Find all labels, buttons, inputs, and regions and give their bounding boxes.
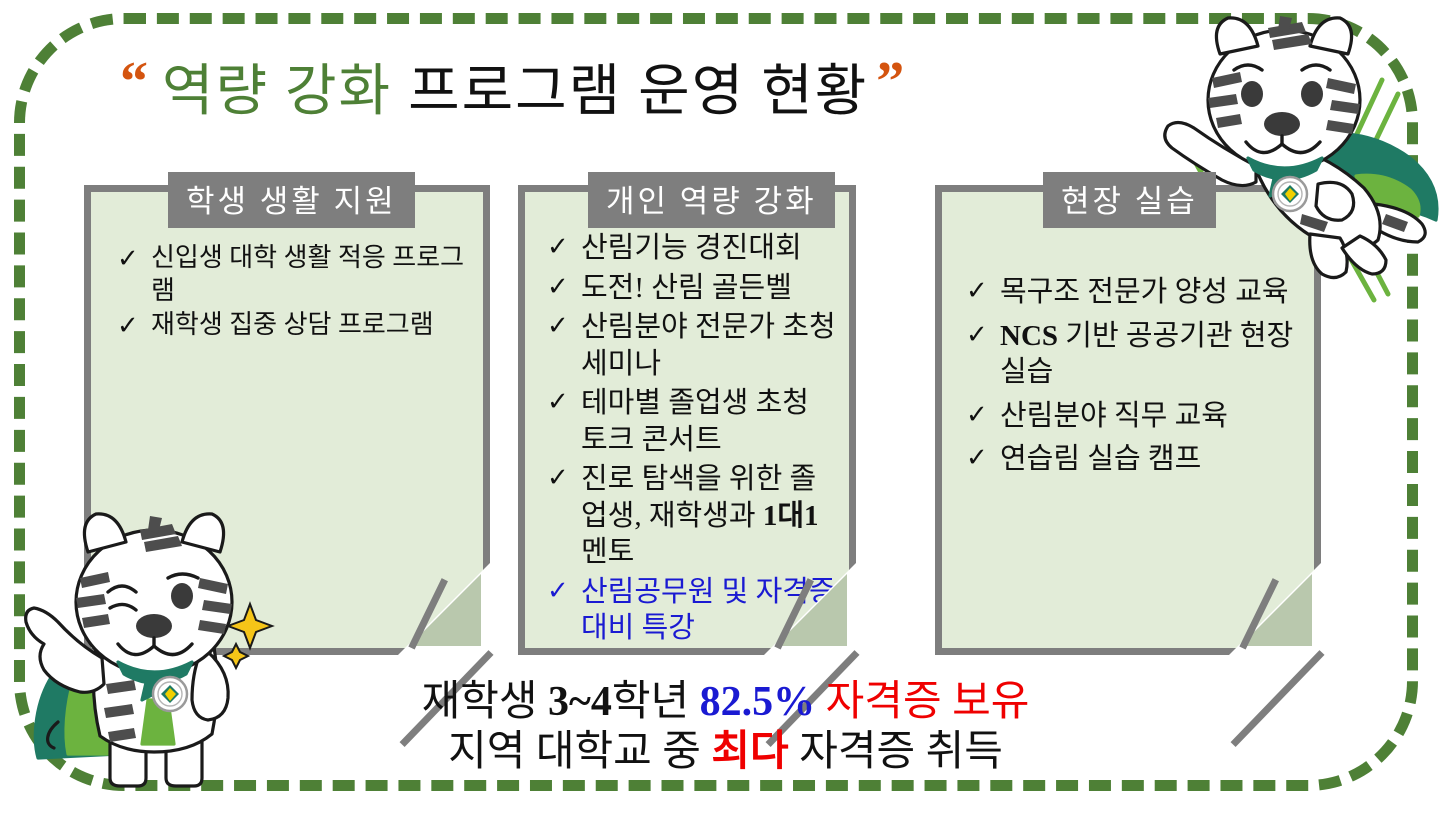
- list-item-label: 산림분야 전문가 초청 세미나: [581, 311, 836, 380]
- check-icon: ✓: [966, 274, 988, 308]
- summary-l2-suffix: 자격증 취득: [789, 729, 1003, 775]
- check-icon: ✓: [547, 461, 569, 495]
- program-card-personal-capacity: ✓ 산림기능 경진대회 ✓ 도전! 산림 골든벨 ✓ 산림분야 전문가 초청 세…: [518, 185, 856, 655]
- list-item-label: 재학생 집중 상담 프로그램: [151, 310, 434, 339]
- card-header-field-practice: 현장 실습: [1043, 172, 1216, 228]
- check-icon: ✓: [966, 441, 988, 475]
- check-icon: ✓: [117, 309, 139, 343]
- page-title: “ 역량 강화 프로그램 운영 현황 ”: [120, 42, 1190, 142]
- list-item-label: 도전! 산림 골든벨: [581, 272, 792, 304]
- list-item-label: 테마별 졸업생 초청 토크 콘서트: [581, 387, 809, 456]
- list-item-label: 산림기능 경진대회: [581, 232, 802, 264]
- tiger-mascot-standing-icon: [22, 486, 282, 806]
- title-highlight: 역량 강화: [162, 64, 392, 120]
- check-icon: ✓: [117, 242, 139, 276]
- summary-percent: 82.5%: [700, 679, 816, 725]
- list-item: ✓ 신입생 대학 생활 적응 프로그램: [111, 242, 473, 308]
- list-item: ✓ 도전! 산림 골든벨: [541, 270, 841, 307]
- check-icon: ✓: [547, 230, 569, 264]
- summary-l2-prefix: 지역 대학교 중: [448, 729, 711, 775]
- summary-emphasis: 최다: [711, 729, 788, 775]
- check-icon: ✓: [966, 318, 988, 352]
- list-item: ✓ 산림분야 직무 교육: [960, 398, 1306, 435]
- list-item: ✓ 재학생 집중 상담 프로그램: [111, 309, 473, 342]
- card-item-list: ✓ 신입생 대학 생활 적응 프로그램 ✓ 재학생 집중 상담 프로그램: [91, 242, 483, 342]
- close-quote-mark: ”: [876, 54, 904, 110]
- summary-l1-suffix: 자격증 보유: [815, 679, 1029, 725]
- list-item-label: 진로 탐색을 위한 졸업생, 재학생과 1대1 멘토: [581, 463, 819, 568]
- list-item: ✓ 산림분야 전문가 초청 세미나: [541, 309, 841, 382]
- check-icon: ✓: [547, 309, 569, 343]
- check-icon: ✓: [547, 385, 569, 419]
- open-quote-mark: “: [120, 54, 148, 110]
- check-icon: ✓: [547, 270, 569, 304]
- list-item: ✓ NCS 기반 공공기관 현장 실습: [960, 318, 1306, 391]
- list-item-label: NCS 기반 공공기관 현장 실습: [1000, 320, 1293, 389]
- list-item-label: 연습림 실습 캠프: [1000, 443, 1201, 475]
- title-rest: 프로그램 운영 현황: [408, 64, 868, 120]
- check-icon: ✓: [966, 398, 988, 432]
- card-header-personal-capacity: 개인 역량 강화: [588, 172, 835, 228]
- list-item: ✓ 테마별 졸업생 초청 토크 콘서트: [541, 385, 841, 458]
- tiger-mascot-flying-icon: [1160, 8, 1450, 308]
- summary-l1-prefix: 재학생: [422, 679, 548, 725]
- list-item: ✓ 연습림 실습 캠프: [960, 441, 1306, 478]
- card-header-student-life: 학생 생활 지원: [168, 172, 415, 228]
- summary-grade: 3~4: [548, 679, 612, 725]
- list-item-label: 신입생 대학 생활 적응 프로그램: [151, 243, 464, 305]
- summary-l1-mid: 학년: [612, 679, 700, 725]
- slide-canvas: “ 역량 강화 프로그램 운영 현황 ” ✓ 신입생 대학 생활 적응 프로그램…: [0, 0, 1451, 814]
- list-item: ✓ 진로 탐색을 위한 졸업생, 재학생과 1대1 멘토: [541, 461, 841, 571]
- list-item: ✓ 산림기능 경진대회: [541, 230, 841, 267]
- check-icon: ✓: [547, 574, 569, 608]
- list-item-label: 산림분야 직무 교육: [1000, 400, 1228, 432]
